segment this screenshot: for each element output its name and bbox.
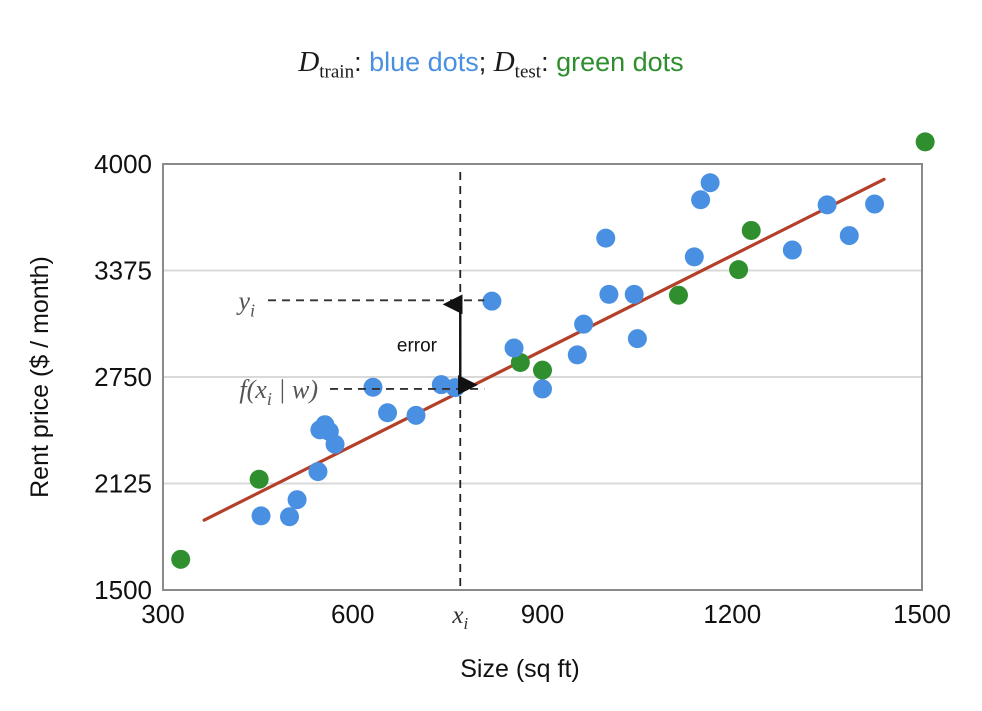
y-tick-label: 2750 xyxy=(94,362,152,392)
test-data-point xyxy=(171,550,190,569)
chart-page: Dtrain: blue dots; Dtest: green dots 150… xyxy=(0,0,982,711)
train-data-point xyxy=(533,379,552,398)
y-axis-tick-labels: 15002125275033754000 xyxy=(94,149,152,605)
train-data-point xyxy=(288,490,307,509)
train-data-point xyxy=(252,506,271,525)
error-annotation-label: error xyxy=(397,336,438,357)
train-data-point xyxy=(701,173,720,192)
f-x-i-annotation-label: f(xi | w) xyxy=(239,375,318,409)
y-tick-label: 2125 xyxy=(94,469,152,499)
x-axis-title: Size (sq ft) xyxy=(460,655,579,683)
test-data-point xyxy=(533,361,552,380)
x-tick-label: 1200 xyxy=(703,599,761,629)
train-data-point xyxy=(865,195,884,214)
train-data-point xyxy=(628,329,647,348)
train-data-point xyxy=(818,195,837,214)
train-data-point xyxy=(625,285,644,304)
test-data-point xyxy=(916,132,935,151)
train-data-point xyxy=(574,315,593,334)
train-data-point xyxy=(326,435,345,454)
train-data-point xyxy=(482,292,501,311)
train-data-point xyxy=(407,406,426,425)
x-tick-label: 1500 xyxy=(893,599,951,629)
scatter-plot-svg: 15002125275033754000 30060090012001500 R… xyxy=(0,0,982,711)
x-tick-label: 300 xyxy=(141,599,184,629)
regression-line-path xyxy=(204,179,884,520)
train-data-point xyxy=(446,378,465,397)
test-data-point xyxy=(250,470,269,489)
regression-line xyxy=(204,179,884,520)
test-points-group xyxy=(171,132,934,568)
test-data-point xyxy=(669,286,688,305)
train-data-point xyxy=(840,226,859,245)
train-data-point xyxy=(568,345,587,364)
x-i-axis-annotation-label: xi xyxy=(451,602,468,633)
test-data-point xyxy=(742,221,761,240)
train-data-point xyxy=(691,190,710,209)
y-tick-label: 3375 xyxy=(94,256,152,286)
y-tick-label: 4000 xyxy=(94,149,152,179)
y-i-annotation-label: yi xyxy=(235,286,255,320)
train-data-point xyxy=(378,403,397,422)
train-data-point xyxy=(685,247,704,266)
train-data-point xyxy=(596,229,615,248)
train-data-point xyxy=(280,507,299,526)
train-data-point xyxy=(308,462,327,481)
train-data-point xyxy=(599,285,618,304)
test-data-point xyxy=(729,260,748,279)
x-tick-label: 900 xyxy=(521,599,564,629)
train-data-point xyxy=(505,339,524,358)
x-axis-tick-labels: 30060090012001500 xyxy=(141,599,951,629)
error-annotation-group: yi error f(xi | w) xi xyxy=(235,172,484,633)
x-tick-label: 600 xyxy=(331,599,374,629)
y-axis-title: Rent price ($ / month) xyxy=(26,256,54,498)
train-data-point xyxy=(783,241,802,260)
train-data-point xyxy=(363,378,382,397)
